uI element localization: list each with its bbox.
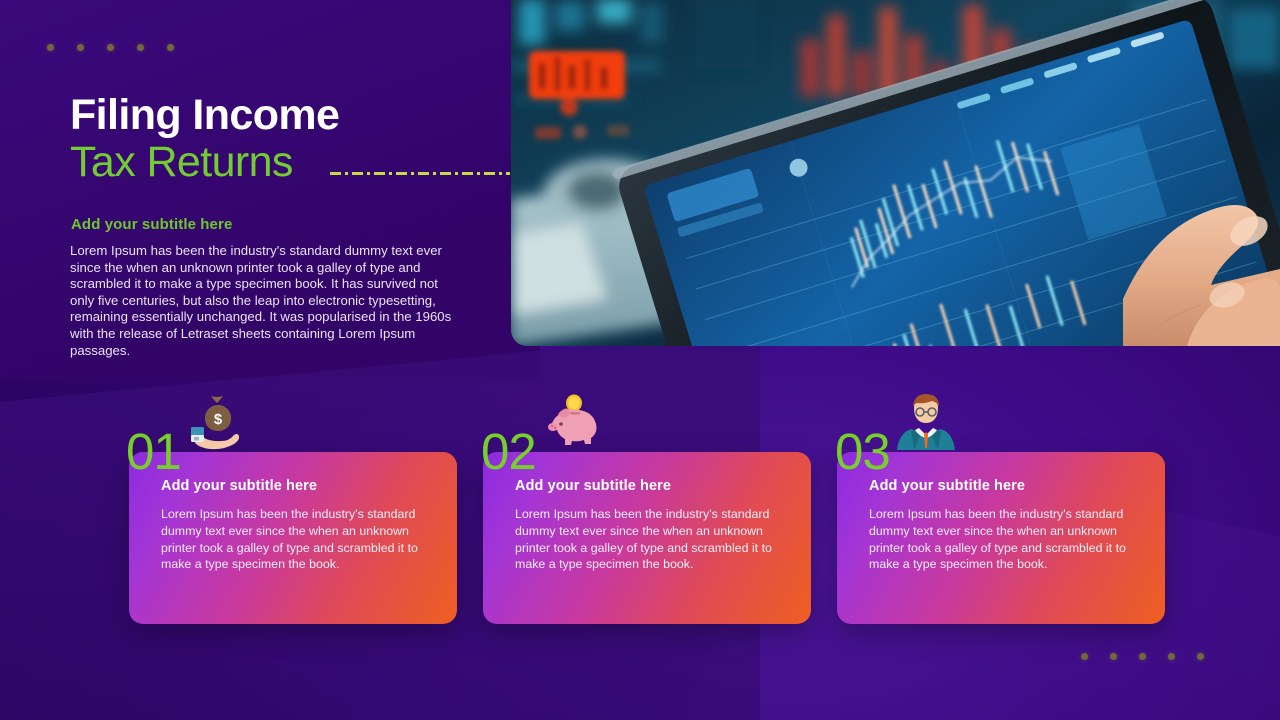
- card-title: Add your subtitle here: [161, 478, 435, 494]
- title-dashed-rule: [330, 172, 510, 175]
- businessman-icon: [895, 390, 957, 450]
- card-text: Lorem Ipsum has been the industry's stan…: [515, 506, 787, 573]
- decor-dots-bottom-right: [1081, 653, 1204, 660]
- card-number: 01: [126, 426, 181, 477]
- decor-dot: [1081, 653, 1088, 660]
- hero-image: [511, 0, 1280, 346]
- decor-dot: [47, 44, 54, 51]
- section-subtitle: Add your subtitle here: [71, 216, 232, 233]
- decor-dot: [77, 44, 84, 51]
- piggy-bank-icon: [541, 392, 603, 452]
- decor-dot: [1139, 653, 1146, 660]
- decor-dot: [167, 44, 174, 51]
- money-bag-in-hand-icon: $: [187, 394, 249, 454]
- card-title: Add your subtitle here: [515, 478, 789, 494]
- decor-dots-top-left: [47, 44, 174, 51]
- card-title: Add your subtitle here: [869, 478, 1143, 494]
- headline-line-1: Filing Income: [70, 92, 490, 138]
- decor-dot: [1197, 653, 1204, 660]
- svg-text:$: $: [214, 411, 223, 428]
- section-body-text: Lorem Ipsum has been the industry's stan…: [70, 243, 452, 359]
- card-number: 03: [835, 426, 890, 477]
- card-text: Lorem Ipsum has been the industry's stan…: [869, 506, 1141, 573]
- headline-line-2: Tax Returns: [70, 138, 490, 187]
- decor-dot: [1168, 653, 1175, 660]
- decor-dot: [107, 44, 114, 51]
- card-text: Lorem Ipsum has been the industry's stan…: [161, 506, 433, 573]
- card-number: 02: [481, 426, 536, 477]
- tablet-stock-chart-photo: [511, 0, 1280, 346]
- slide-canvas: Filing Income Tax Returns Add your subti…: [0, 0, 1280, 720]
- decor-dot: [137, 44, 144, 51]
- decor-dot: [1110, 653, 1117, 660]
